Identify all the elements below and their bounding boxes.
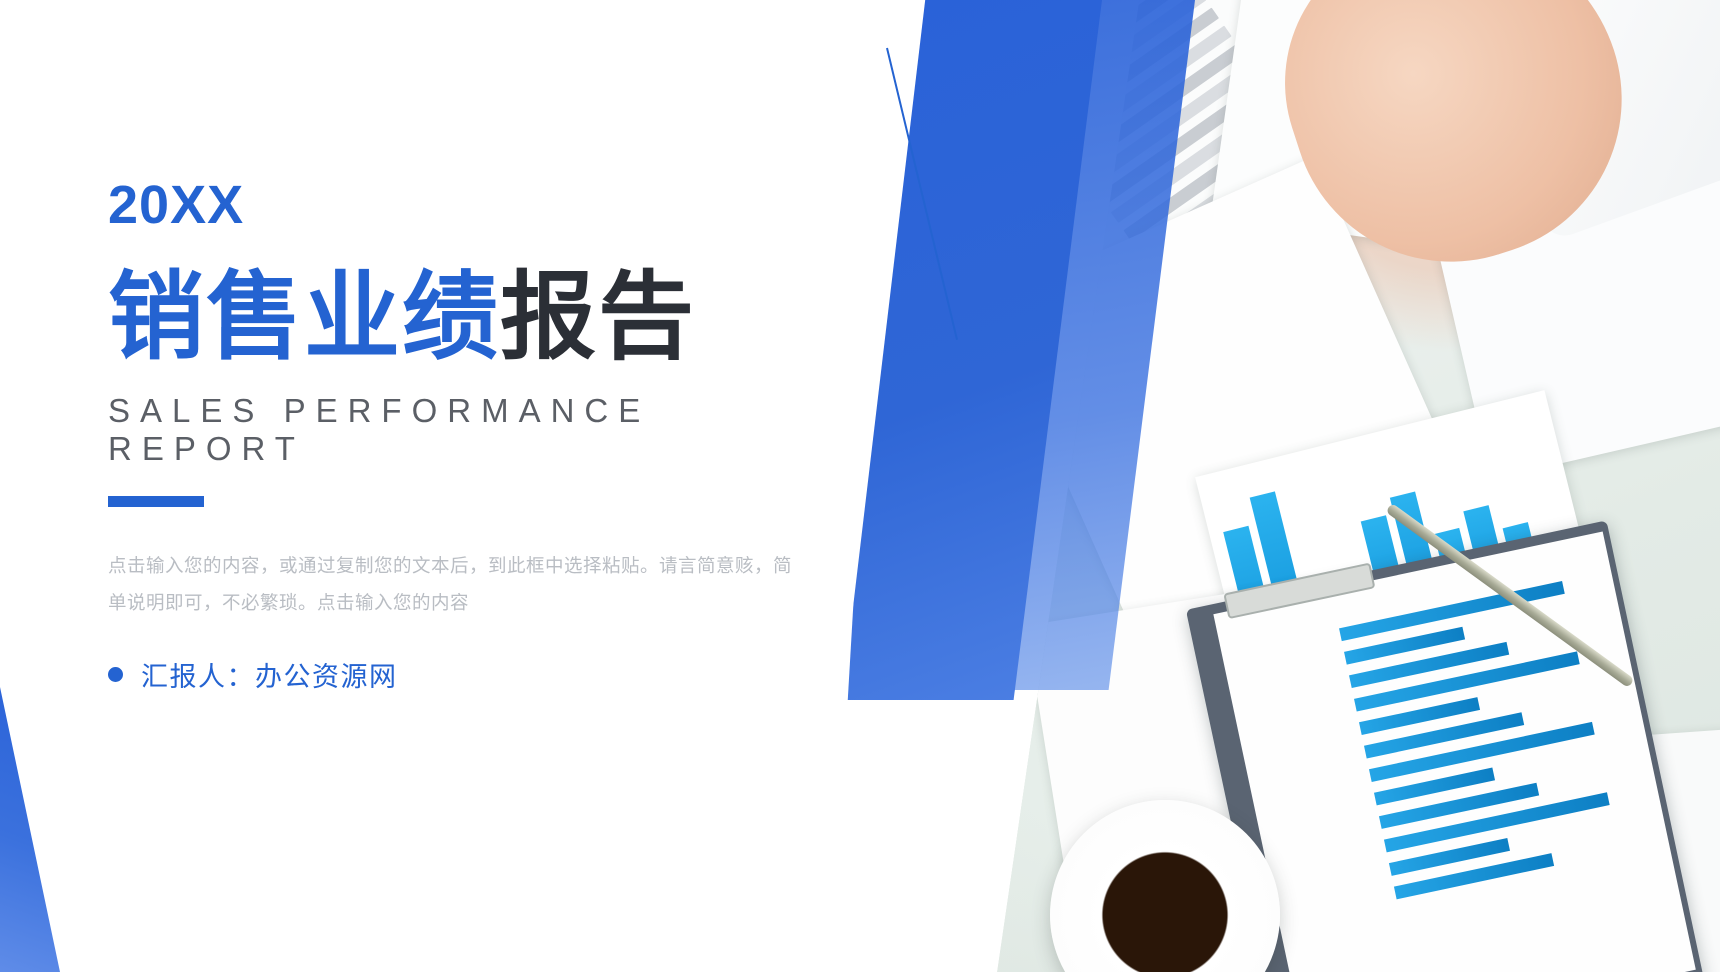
blue-accent-bar (108, 496, 204, 507)
title-content: 20XX 销售业绩报告 SALES PERFORMANCE REPORT 点击输… (108, 178, 828, 694)
title-slide: 20XX 销售业绩报告 SALES PERFORMANCE REPORT 点击输… (0, 0, 1720, 972)
body-paragraph: 点击输入您的内容，或通过复制您的文本后，到此框中选择粘贴。请言简意赅，简单说明即… (108, 547, 808, 621)
page-title: 销售业绩报告 (108, 266, 828, 370)
year-label: 20XX (108, 178, 828, 232)
presenter-line: 汇报人：办公资源网 (108, 655, 828, 694)
bottom-left-blue-triangle (0, 687, 60, 972)
horizontal-bar-chart (1339, 573, 1678, 972)
page-title-secondary: 报告 (500, 264, 696, 371)
page-title-primary: 销售业绩 (108, 264, 500, 371)
subtitle: SALES PERFORMANCE REPORT (108, 392, 828, 468)
bullet-dot-icon (108, 667, 123, 682)
presenter-label: 汇报人：办公资源网 (141, 655, 398, 694)
